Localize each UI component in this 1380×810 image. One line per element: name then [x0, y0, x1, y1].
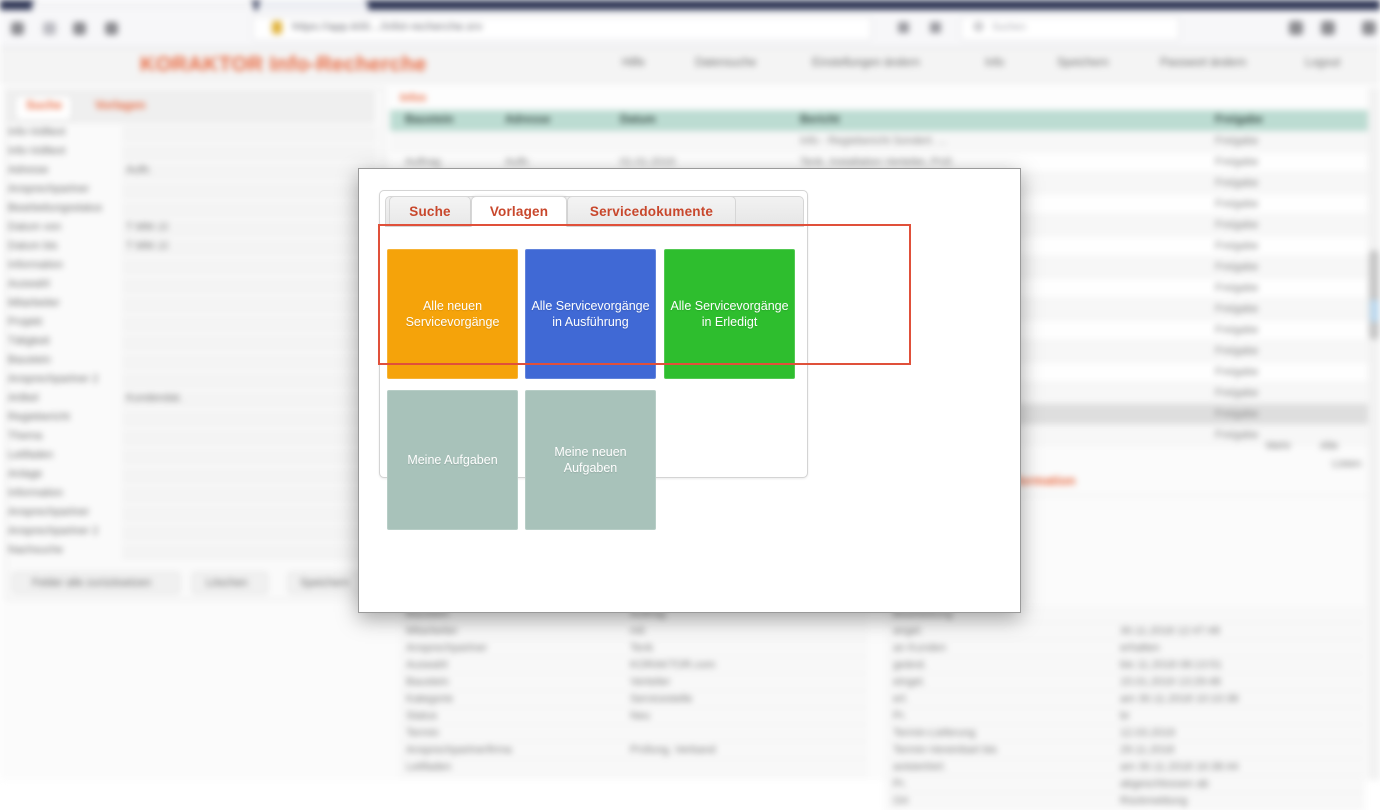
search-field-label: Mitarbeiter [8, 297, 60, 309]
results-column-header[interactable]: Adresse [505, 114, 550, 126]
bookmark-icon[interactable] [930, 22, 941, 33]
table-cell: Auftrag [405, 156, 440, 168]
vorlagen-tile[interactable]: Alle Servicevorgänge in Erledigt [664, 249, 795, 379]
detail-label: Leitfaden [406, 761, 451, 773]
vorlagen-tile[interactable]: Meine Aufgaben [387, 390, 518, 530]
search-field-label: Information [8, 259, 63, 271]
detail-value: erhalten [1120, 642, 1160, 654]
detail-value: Prüfung, Verband [630, 744, 716, 756]
table-cell: Freigabe [1215, 429, 1258, 441]
search-field-label: Ansprechpartner [8, 183, 89, 195]
search-field-value: Kundendat. [126, 392, 182, 404]
search-field-label: Ansprechpartner 2 [8, 373, 99, 385]
table-cell: Freigabe [1215, 345, 1258, 357]
downloads-icon[interactable] [1289, 21, 1303, 35]
detail-value: Neu [630, 710, 650, 722]
search-field-input[interactable] [122, 486, 377, 501]
detail-value: bis 11.2018 08:13:51 [1120, 659, 1222, 671]
table-cell: Freigabe [1215, 261, 1258, 273]
detail-label: an Kunden [893, 642, 946, 654]
sidebar-tab-suche[interactable]: Suche [26, 98, 62, 112]
detail-value: 29.11.2018 [1120, 744, 1174, 756]
search-field-input[interactable] [122, 429, 377, 444]
vorlagen-tile-label: Alle Servicevorgänge in Ausführung [531, 298, 650, 330]
search-field-label: Artikel [8, 392, 39, 404]
search-field-label: Anlage [8, 468, 42, 480]
sidebar-tab-vorlagen[interactable]: Vorlagen [95, 98, 145, 112]
search-field-input[interactable] [122, 334, 377, 349]
detail-value: am 30.11.2018 10:10:38 [1120, 693, 1238, 705]
detail-row [398, 759, 868, 776]
detail-label: Kategorie [406, 693, 453, 705]
table-cell: Freigabe [1215, 198, 1258, 210]
vorlagen-tile-label: Alle neuen Servicevorgänge [393, 298, 512, 330]
vorlagen-dialog: Suche Vorlagen Servicedokumente Alle neu… [358, 168, 1021, 613]
detail-row [398, 725, 868, 742]
detail-value: mit [630, 625, 645, 637]
search-field-label: Information [8, 487, 63, 499]
search-field-label: Leitfaden [8, 449, 53, 461]
vorlagen-tile-label: Meine neuen Aufgaben [531, 444, 650, 476]
search-field-input[interactable] [122, 163, 377, 178]
table-cell: Freigabe [1215, 240, 1258, 252]
search-field-input[interactable] [122, 505, 377, 520]
detail-label: Status [406, 710, 437, 722]
home-icon[interactable] [105, 22, 118, 35]
detail-value: am 30.11.2018 16:38:44 [1120, 761, 1238, 773]
app-menu-einstellungen[interactable]: Einstellungen ändern [812, 57, 920, 69]
table-cell: 01.01.2019 [620, 156, 675, 168]
search-field-input[interactable] [122, 277, 377, 292]
search-field-input[interactable] [122, 543, 377, 558]
search-field-input[interactable] [122, 144, 377, 159]
table-cell: Freigabe [1215, 408, 1258, 420]
search-field-input[interactable] [122, 410, 377, 425]
detail-label: Termin-Lieferung [893, 727, 976, 739]
search-field-value: Auftr. [126, 164, 152, 176]
results-tab-label[interactable]: Infos [400, 92, 426, 104]
detail-label: avisiert/erl. [893, 761, 946, 773]
vorlagen-panel: Suche Vorlagen Servicedokumente Alle neu… [379, 190, 808, 478]
results-column-header[interactable]: Baustein [405, 114, 454, 126]
search-field-input[interactable] [122, 182, 377, 197]
results-column-header[interactable]: Bericht [800, 114, 840, 126]
app-menu-datensuche[interactable]: Datensuche [695, 57, 756, 69]
detail-value: KORAKTOR.com [630, 659, 715, 671]
detail-label: eingel. [893, 676, 925, 688]
search-field-input[interactable] [122, 315, 377, 330]
search-field-label: Bearbeitungsstatus [8, 202, 102, 214]
search-field-label: Regiebericht [8, 411, 70, 423]
app-menu-info[interactable]: Info [985, 57, 1004, 69]
detail-label: Termin-Vereinbart bis [893, 744, 997, 756]
scrollbar-marker [1370, 300, 1379, 322]
back-icon[interactable] [11, 22, 24, 35]
detail-value: Rückmeldung [1120, 795, 1187, 807]
detail-label: Ort [893, 795, 908, 807]
menu-icon[interactable] [1362, 21, 1376, 35]
detail-value: Verteiler [630, 676, 670, 688]
app-menu-logout[interactable]: Logout [1305, 57, 1340, 69]
detail-value: 30.11.2018 12:47:48 [1120, 625, 1220, 637]
search-field-input[interactable] [122, 448, 377, 463]
vorlagen-tile[interactable]: Alle neuen Servicevorgänge [387, 249, 518, 379]
reader-icon[interactable] [898, 22, 909, 33]
table-cell: Freigabe [1215, 387, 1258, 399]
results-column-header[interactable]: Freigabe [1215, 114, 1263, 126]
account-icon[interactable] [1321, 21, 1335, 35]
detail-label: Ansprechpartnerfirma [406, 744, 512, 756]
tab-servicedokumente[interactable]: Servicedokumente [567, 196, 736, 227]
table-cell: Freigabe [1215, 282, 1258, 294]
search-field-label: Ansprechpartner [8, 506, 89, 518]
table-cell: Tenk. Installation Verteiler, Prüf. [800, 156, 954, 168]
detail-label: Mitarbeiter [406, 625, 458, 637]
tab-suche[interactable]: Suche [389, 196, 471, 227]
vorlagen-tile-grid: Alle neuen ServicevorgängeAlle Servicevo… [385, 227, 804, 474]
table-cell: Freigabe [1215, 303, 1258, 315]
results-all-button[interactable]: Alle [1320, 440, 1338, 452]
reset-fields-label: Felder alle zurücksetzen [32, 577, 151, 589]
detail-label: erl. [893, 693, 908, 705]
detail-value: Tenk [630, 642, 653, 654]
forward-icon[interactable] [43, 22, 56, 35]
search-field-label: Info-Volltext [8, 145, 65, 157]
table-cell: Auftr. [505, 156, 531, 168]
table-cell: Info - Regiebericht Sondert. ... [800, 135, 947, 147]
search-field-label: Datum bis [8, 240, 58, 252]
results-lists-button[interactable]: Listen [1332, 458, 1361, 470]
results-more-button[interactable]: Mehr [1266, 440, 1291, 452]
search-field-label: Datum von [8, 221, 61, 233]
search-field-value: T MM JJ [126, 221, 168, 233]
search-field-label: Adresse [8, 164, 48, 176]
app-menu-hilfe[interactable]: Hilfe [622, 57, 645, 69]
delete-label: Löschen [206, 577, 248, 589]
app-menu-passwort[interactable]: Passwort ändern [1160, 57, 1246, 69]
detail-value: 15.01.2019 13:29:48 [1120, 676, 1221, 688]
search-field-input[interactable] [122, 524, 377, 539]
search-icon [974, 22, 983, 31]
detail-label: Ansprechpartner [406, 642, 487, 654]
search-field-label: Tätigkeit [8, 335, 50, 347]
search-field-input[interactable] [122, 372, 377, 387]
search-field-label: Projekt [8, 316, 42, 328]
table-cell: Freigabe [1215, 324, 1258, 336]
detail-label: Baustein [406, 676, 449, 688]
vorlagen-tile[interactable]: Alle Servicevorgänge in Ausführung [525, 249, 656, 379]
vorlagen-tile[interactable]: Meine neuen Aufgaben [525, 390, 656, 530]
search-field-label: Nachsuche [8, 544, 63, 556]
detail-value: Servicestelle [630, 693, 692, 705]
search-field-label: Ansprechpartner 2 [8, 525, 99, 537]
detail-label: angel. [893, 625, 923, 637]
detail-value: br [1120, 710, 1130, 722]
url-text: https://app.k00.../infot-recherche.srv [292, 21, 483, 33]
table-cell: Freigabe [1215, 156, 1258, 168]
detail-label: Termin [406, 727, 439, 739]
detail-value: 12.03.2019 [1120, 727, 1175, 739]
search-field-input[interactable] [122, 258, 377, 273]
search-field-input[interactable] [122, 467, 377, 482]
search-field-input[interactable] [122, 296, 377, 311]
page-scrollbar[interactable] [1368, 88, 1380, 780]
search-field-input[interactable] [122, 125, 377, 140]
app-title: KORAKTOR Info-Recherche [140, 53, 427, 77]
table-cell: Freigabe [1215, 219, 1258, 231]
detail-label: Auswahl [406, 659, 448, 671]
lock-icon [272, 21, 282, 34]
table-cell: Freigabe [1215, 177, 1258, 189]
tab-vorlagen[interactable]: Vorlagen [471, 196, 567, 227]
table-cell: Freigabe [1215, 135, 1258, 147]
vorlagen-tile-label: Alle Servicevorgänge in Erledigt [670, 298, 789, 330]
search-field-input[interactable] [122, 201, 377, 216]
save-label: Speichern [300, 577, 350, 589]
search-field-label: Auswahl [8, 278, 50, 290]
detail-label: Pr. [893, 710, 906, 722]
page-scrollbar-thumb[interactable] [1369, 250, 1379, 340]
app-menu-speichern[interactable]: Speichern [1057, 57, 1109, 69]
vorlagen-tile-label: Meine Aufgaben [407, 452, 497, 468]
search-field-label: Info-Volltext [8, 126, 65, 138]
search-field-label: Thema [8, 430, 42, 442]
search-field-value: T MM JJ [126, 240, 168, 252]
detail-label: geänd. [893, 659, 927, 671]
results-column-header[interactable]: Datum [620, 114, 656, 126]
reload-icon[interactable] [73, 22, 86, 35]
search-placeholder: Suchen [992, 22, 1026, 33]
search-field-input[interactable] [122, 353, 377, 368]
table-cell: Freigabe [1215, 366, 1258, 378]
search-field-label: Baustein [8, 354, 51, 366]
